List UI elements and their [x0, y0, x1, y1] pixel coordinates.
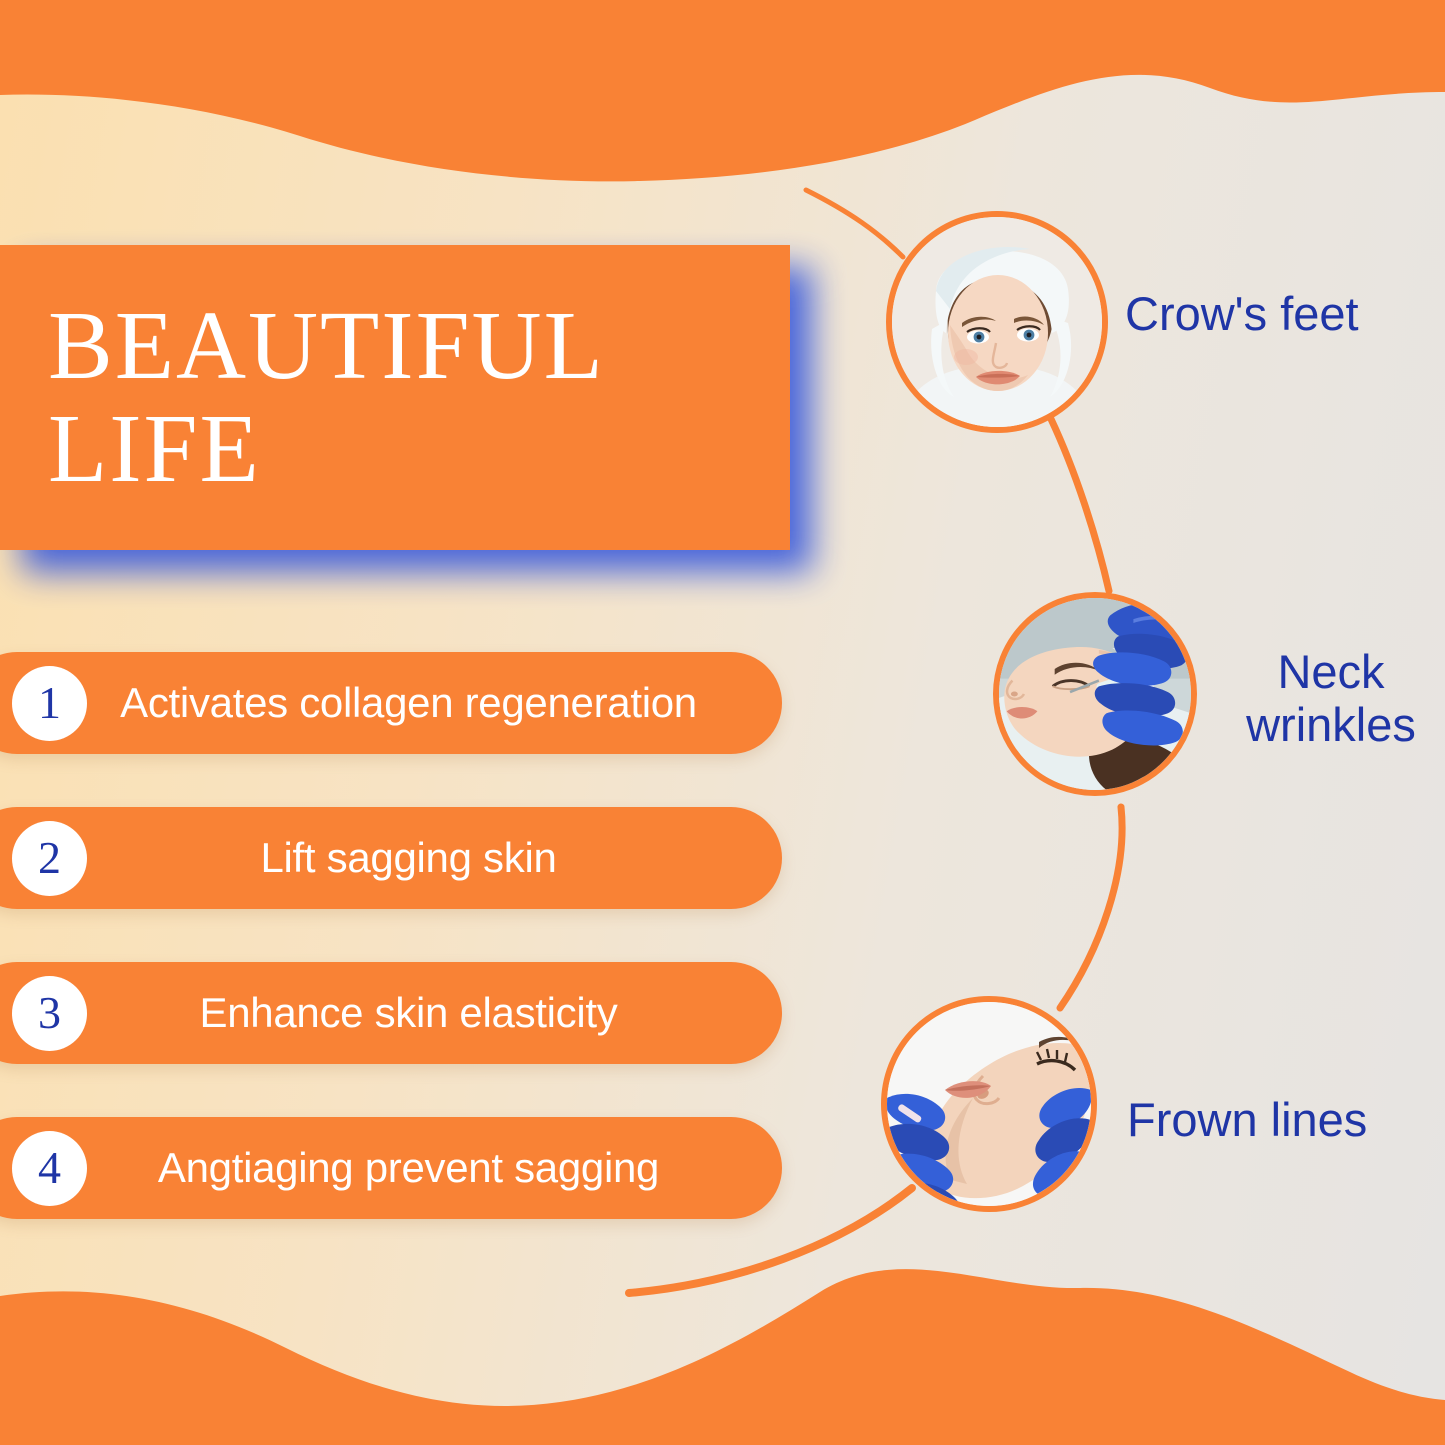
benefit-number-badge: 3 — [12, 976, 87, 1051]
callout-label-frown-lines: Frown lines — [1127, 1094, 1367, 1147]
list-item[interactable]: 4 Angtiaging prevent sagging — [0, 1117, 782, 1219]
benefit-label: Angtiaging prevent sagging — [87, 1144, 782, 1192]
page-title-line-1: BEAUTIFUL — [48, 295, 790, 398]
title-orange-box: BEAUTIFUL LIFE — [0, 245, 790, 550]
title-block: BEAUTIFUL LIFE — [0, 245, 790, 550]
woman-face-spa-headwrap-photo — [886, 211, 1108, 433]
benefit-label: Activates collagen regeneration — [87, 679, 782, 727]
callout-label-neck-wrinkles: Neck wrinkles — [1222, 646, 1440, 751]
benefit-label: Lift sagging skin — [87, 834, 782, 882]
bottom-wave-shape — [0, 1269, 1445, 1445]
benefit-number-badge: 4 — [12, 1131, 87, 1206]
list-item[interactable]: 2 Lift sagging skin — [0, 807, 782, 909]
gloved-hands-face-treatment-photo — [881, 996, 1097, 1212]
injection-procedure-syringe-photo — [993, 592, 1197, 796]
list-item[interactable]: 1 Activates collagen regeneration — [0, 652, 782, 754]
page-title-line-2: LIFE — [48, 398, 790, 501]
benefit-label: Enhance skin elasticity — [87, 989, 782, 1037]
list-item[interactable]: 3 Enhance skin elasticity — [0, 962, 782, 1064]
promotional-poster: BEAUTIFUL LIFE 1 Activates collagen rege… — [0, 0, 1445, 1445]
top-wave-shape — [0, 0, 1445, 181]
callout-label-crows-feet: Crow's feet — [1125, 288, 1359, 341]
benefit-number-badge: 1 — [12, 666, 87, 741]
benefit-list: 1 Activates collagen regeneration 2 Lift… — [0, 652, 830, 1272]
benefit-number-badge: 2 — [12, 821, 87, 896]
